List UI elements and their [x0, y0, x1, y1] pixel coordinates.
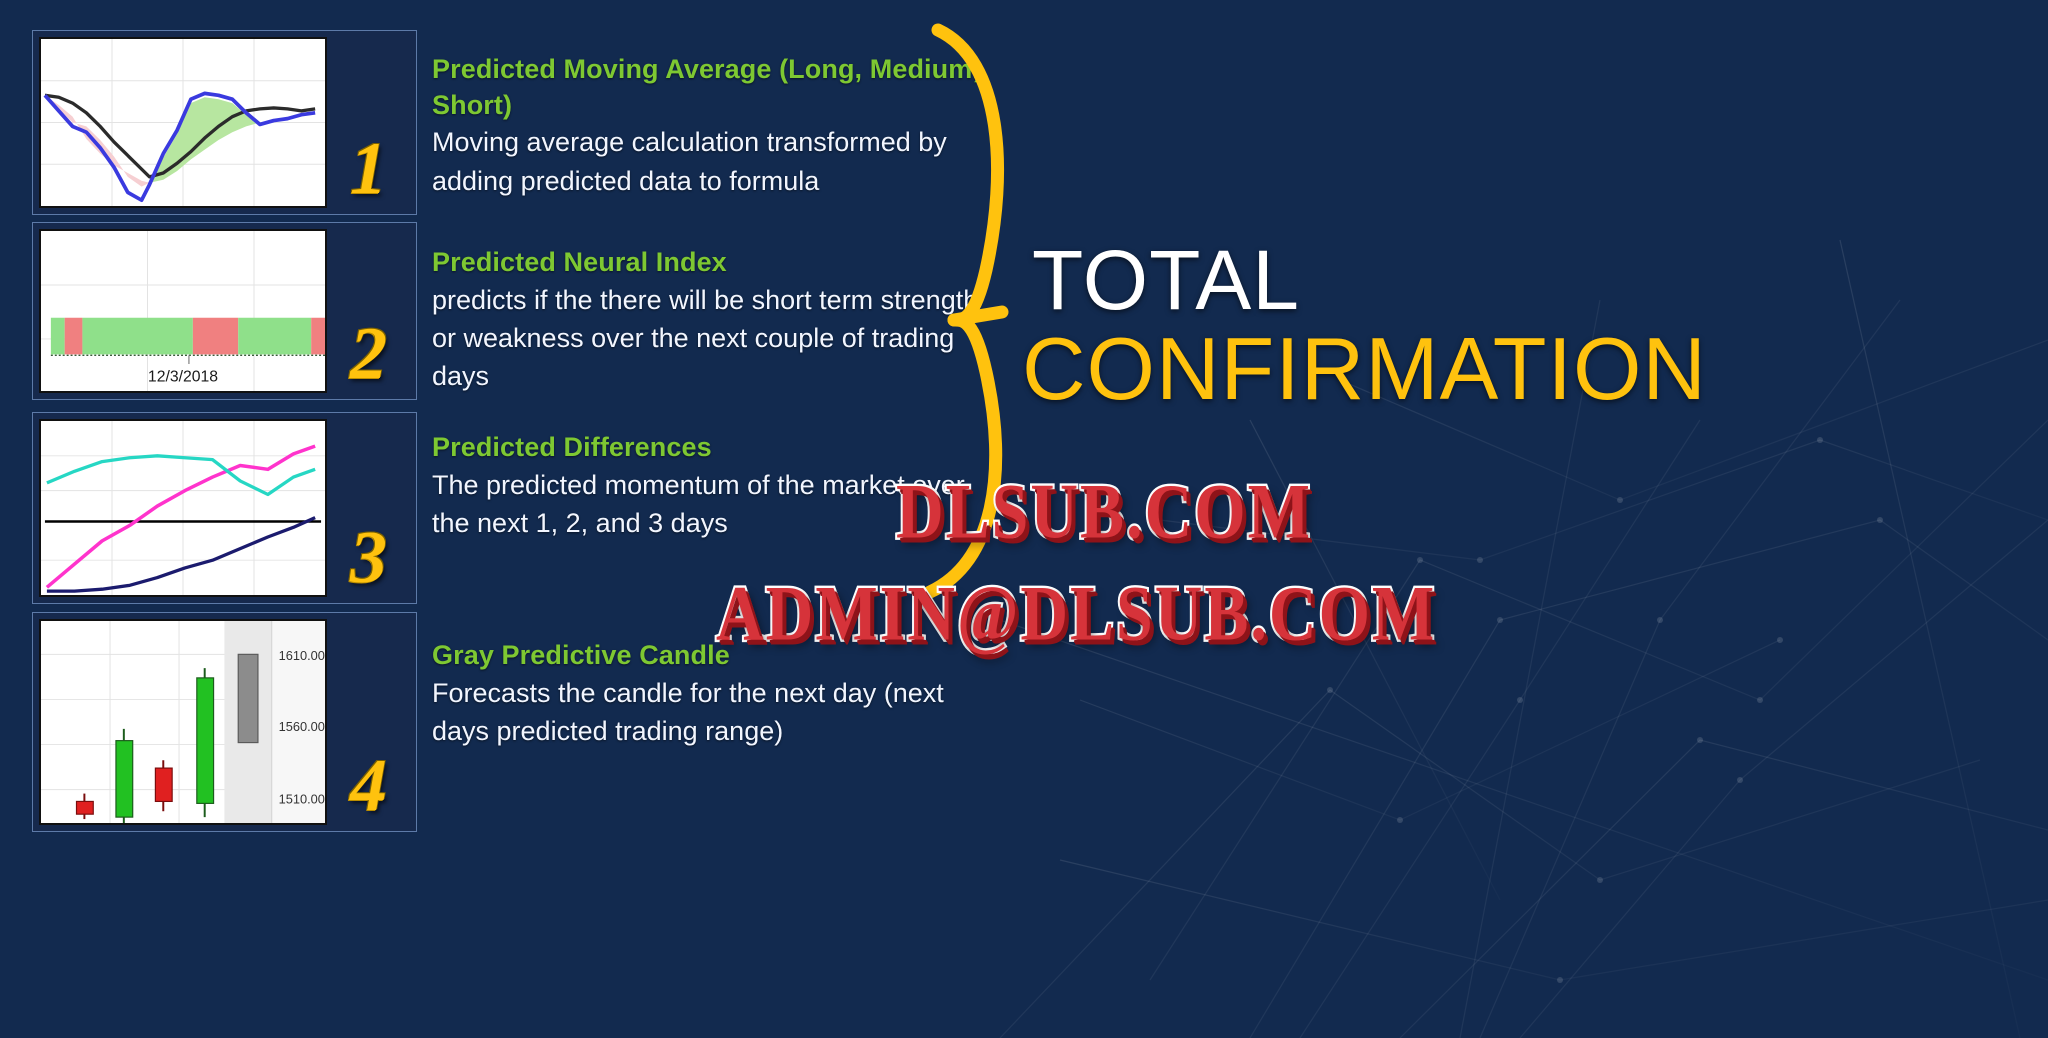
candle-5-predicted-gray	[238, 654, 258, 742]
card-number-wrap-1: 1	[327, 37, 410, 208]
neural-index-chart: 12/3/2018	[41, 231, 325, 391]
candlestick-chart: 1610.00 1560.00 1510.00	[41, 621, 325, 823]
price-tick-1510: 1510.00	[279, 791, 325, 806]
candle-4	[197, 668, 214, 817]
feature-card-1: 1	[32, 30, 417, 215]
card-number-wrap-3: 3	[327, 419, 410, 597]
price-tick-1560: 1560.00	[279, 719, 325, 734]
card-number-wrap-2: 2	[327, 229, 410, 393]
card-number-2: 2	[350, 319, 387, 389]
card-number-1: 1	[350, 134, 387, 204]
card-number-4: 4	[350, 751, 387, 821]
price-tick-1610: 1610.00	[279, 648, 325, 663]
watermark-email: ADMIN@DLSUB.COM	[716, 570, 1436, 660]
chart-thumbnail-moving-average[interactable]	[39, 37, 327, 208]
chart-thumbnail-neural-index[interactable]: 12/3/2018	[39, 229, 327, 393]
feature-card-3: 3	[32, 412, 417, 604]
moving-average-chart	[41, 39, 325, 206]
neural-index-date-label: 12/3/2018	[148, 369, 218, 386]
neural-index-band	[51, 318, 325, 355]
headline-confirmation: CONFIRMATION	[1022, 318, 1707, 420]
feature-body-4: Forecasts the candle for the next day (n…	[432, 674, 992, 751]
chart-thumbnail-predicted-differences[interactable]	[39, 419, 327, 597]
card-number-3: 3	[350, 523, 387, 593]
predicted-differences-chart	[41, 421, 325, 595]
headline-total: TOTAL	[1032, 232, 1300, 329]
infographic-root: 1	[0, 0, 2048, 1038]
feature-card-4: 1610.00 1560.00 1510.00	[32, 612, 417, 832]
candle-2	[116, 729, 133, 823]
card-number-wrap-4: 4	[327, 619, 410, 825]
chart-thumbnail-gray-candle[interactable]: 1610.00 1560.00 1510.00	[39, 619, 327, 825]
watermark-site: DLSUB.COM	[896, 468, 1312, 558]
feature-card-2: 12/3/2018 2	[32, 222, 417, 400]
